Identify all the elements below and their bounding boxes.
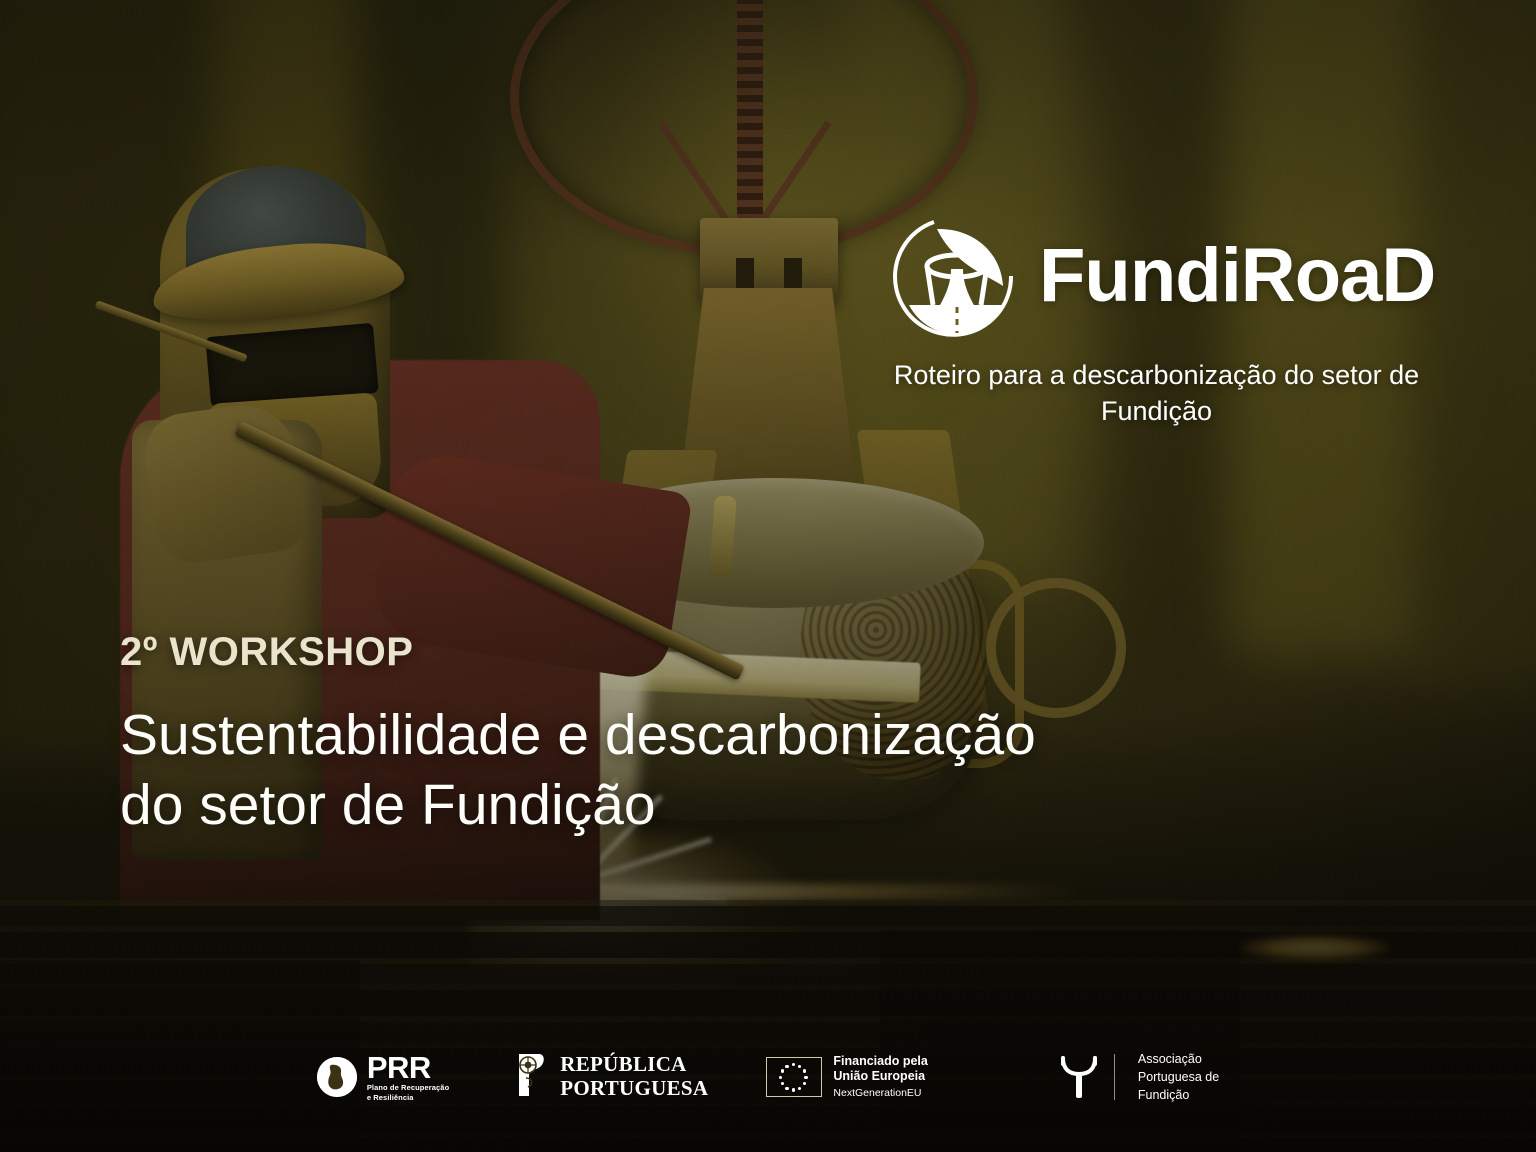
prr-subtitle: Plano de Recuperação e Resiliência (367, 1083, 449, 1103)
title-line-1: Sustentabilidade e descarbonização (120, 701, 1300, 771)
rp-line-1: REPÚBLICA (560, 1053, 708, 1077)
logo-republica-portuguesa: REPÚBLICA PORTUGUESA (515, 1052, 708, 1103)
logo-eu-funding: Financiado pela União Europeia NextGener… (766, 1054, 927, 1100)
brand-block: FundiRoaD Roteiro para a descarbonização… (893, 212, 1453, 429)
prr-circle-map-icon (317, 1057, 357, 1097)
eu-flag-stars-icon (766, 1057, 822, 1097)
logo-apf: Associação Portuguesa de Fundição (1060, 1050, 1219, 1104)
workshop-kicker: 2º WORKSHOP (120, 630, 1300, 675)
prr-subtitle-line-2: e Resiliência (367, 1093, 449, 1103)
republica-portuguesa-text: REPÚBLICA PORTUGUESA (560, 1053, 708, 1100)
eu-funding-text: Financiado pela União Europeia NextGener… (833, 1054, 927, 1100)
headline-block: 2º WORKSHOP Sustentabilidade e descarbon… (120, 630, 1300, 840)
apf-text: Associação Portuguesa de Fundição (1138, 1050, 1219, 1104)
prr-subtitle-line-1: Plano de Recuperação (367, 1083, 449, 1093)
page-title: Sustentabilidade e descarbonização do se… (120, 701, 1300, 840)
rp-line-2: PORTUGUESA (560, 1077, 708, 1101)
funding-logo-strip: PRR Plano de Recuperação e Resiliência (0, 1032, 1536, 1122)
fundiroad-logo-icon (893, 212, 1021, 340)
apf-line-1: Associação (1138, 1050, 1219, 1068)
logo-prr: PRR Plano de Recuperação e Resiliência (317, 1052, 449, 1103)
eu-line-3: NextGenerationEU (833, 1087, 927, 1100)
content-layer: FundiRoaD Roteiro para a descarbonização… (0, 0, 1536, 1152)
brand-wordmark: FundiRoaD (1039, 238, 1435, 314)
eu-line-2: União Europeia (833, 1069, 927, 1084)
apf-divider (1114, 1054, 1115, 1100)
brand-tagline: Roteiro para a descarbonização do setor … (893, 358, 1420, 429)
apf-line-2: Portuguesa de (1138, 1068, 1219, 1086)
republica-portuguesa-shield-icon (515, 1052, 549, 1103)
apf-line-3: Fundição (1138, 1086, 1219, 1104)
prr-text: PRR Plano de Recuperação e Resiliência (367, 1052, 449, 1103)
title-slide: FundiRoaD Roteiro para a descarbonização… (0, 0, 1536, 1152)
title-line-2: do setor de Fundição (120, 771, 1300, 841)
brand-lockup: FundiRoaD (893, 212, 1453, 340)
prr-acronym: PRR (367, 1050, 431, 1085)
apf-crucible-icon (1060, 1054, 1098, 1100)
eu-line-1: Financiado pela (833, 1054, 927, 1069)
